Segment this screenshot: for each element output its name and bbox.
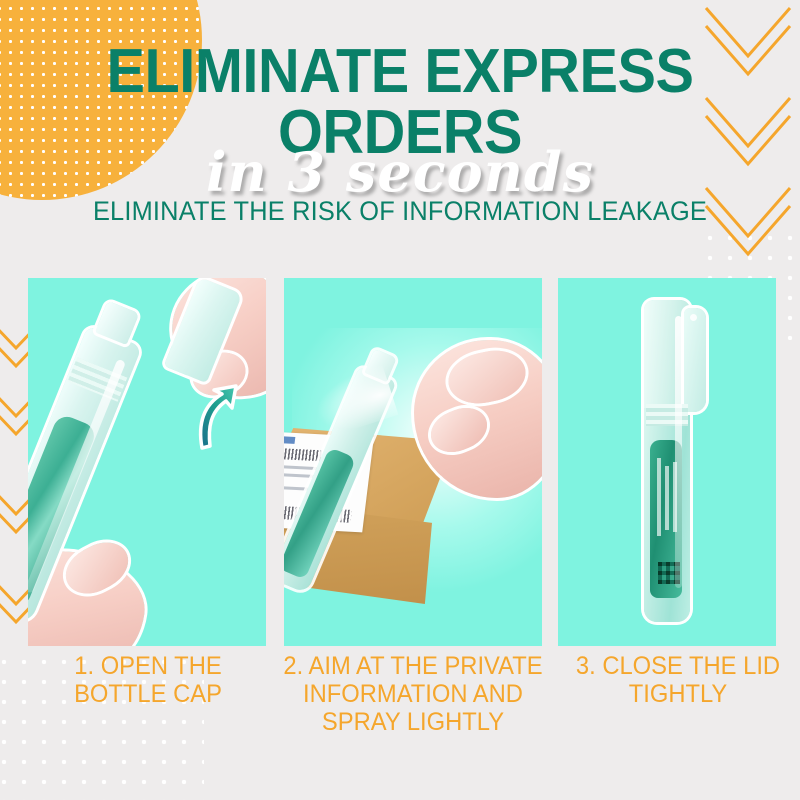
step-caption-1: 1. OPEN THE BOTTLE CAP xyxy=(34,652,262,708)
header: ELIMINATE EXPRESS ORDERS in 3 seconds EL… xyxy=(0,0,800,164)
step-caption-2: 2. AIM AT THE PRIVATE INFORMATION AND SP… xyxy=(275,652,551,736)
scene-open-cap xyxy=(28,278,266,646)
step-panels xyxy=(0,278,800,646)
step-image-3 xyxy=(558,278,776,646)
curved-up-arrow-icon xyxy=(192,382,244,457)
step-caption-3: 3. CLOSE THE LID TIGHTLY xyxy=(562,652,794,708)
page-title: ELIMINATE EXPRESS ORDERS xyxy=(28,0,772,164)
script-tagline: in 3 seconds xyxy=(0,140,800,204)
step-image-1 xyxy=(28,278,266,646)
step-image-2 xyxy=(284,278,542,646)
pen-clip xyxy=(684,308,706,412)
closed-spray-pen xyxy=(644,300,690,622)
